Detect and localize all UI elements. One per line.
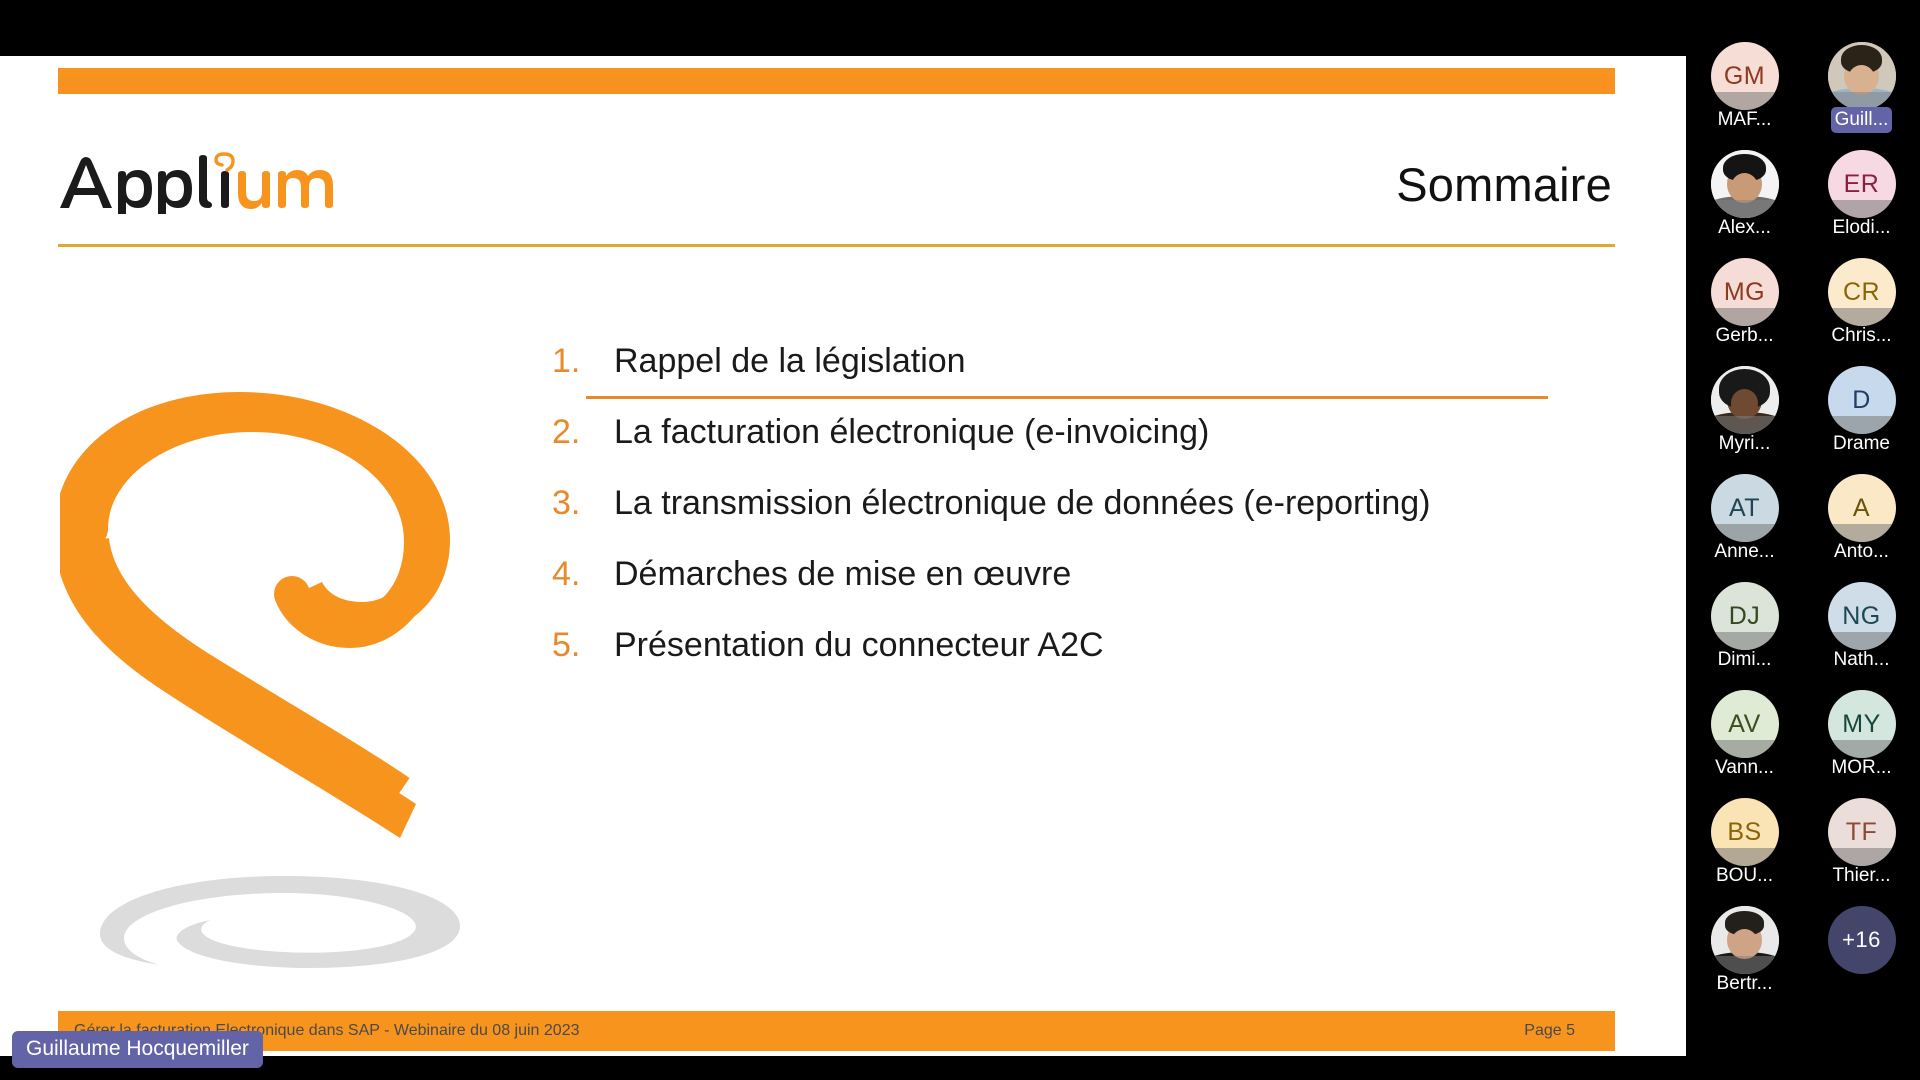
participant-avatar-initials: AV xyxy=(1711,690,1779,758)
agenda-item-label: Démarches de mise en œuvre xyxy=(614,553,1071,595)
agenda-item-number: 5. xyxy=(552,624,614,666)
participant-tile[interactable]: TFThier... xyxy=(1803,798,1920,906)
avatar-initials: CR xyxy=(1843,278,1880,307)
participant-tile[interactable]: DDrame xyxy=(1803,366,1920,474)
shared-screen-content[interactable]: Sommaire 1. xyxy=(0,56,1686,1056)
participant-name: Anne... xyxy=(1710,539,1778,565)
participant-name: Dimi... xyxy=(1714,647,1776,673)
participant-avatar-initials: BS xyxy=(1711,798,1779,866)
participant-avatar-initials: TF xyxy=(1828,798,1896,866)
participant-avatar-initials: CR xyxy=(1828,258,1896,326)
participant-name: MAF... xyxy=(1714,107,1776,133)
agenda-active-underline xyxy=(586,396,1548,399)
participant-name: Anto... xyxy=(1830,539,1893,565)
participant-avatar-photo xyxy=(1711,150,1779,218)
participant-name: Nath... xyxy=(1830,647,1894,673)
participant-tile[interactable]: Myri... xyxy=(1686,366,1803,474)
participant-rail[interactable]: GMMAF... Guill... Alex...ERElodi...MGGer… xyxy=(1686,0,1920,1080)
slide-title: Sommaire xyxy=(1396,156,1612,214)
avatar-initials: MG xyxy=(1724,278,1765,307)
participant-avatar-photo xyxy=(1711,906,1779,974)
agenda-item-number: 2. xyxy=(552,411,614,453)
avatar-initials: AV xyxy=(1728,710,1761,739)
agenda-list: 1. Rappel de la législation 2. La factur… xyxy=(552,340,1552,695)
agenda-item-5[interactable]: 5. Présentation du connecteur A2C xyxy=(552,624,1552,695)
agenda-item-number: 4. xyxy=(552,553,614,595)
avatar-initials: MY xyxy=(1842,710,1881,739)
participant-tile[interactable]: MYMOR... xyxy=(1803,690,1920,798)
avatar-photo xyxy=(1711,366,1779,434)
presentation-slide: Sommaire 1. xyxy=(0,56,1686,1056)
participant-tile[interactable]: ATAnne... xyxy=(1686,474,1803,582)
avatar-photo xyxy=(1828,42,1896,110)
participant-name: Vann... xyxy=(1711,755,1778,781)
agenda-item-2[interactable]: 2. La facturation électronique (e-invoic… xyxy=(552,411,1552,482)
participant-grid: GMMAF... Guill... Alex...ERElodi...MGGer… xyxy=(1686,42,1920,1014)
participant-name: Myri... xyxy=(1715,431,1775,457)
participant-avatar-photo xyxy=(1828,42,1896,110)
avatar-initials: A xyxy=(1853,494,1870,523)
agenda-item-number: 1. xyxy=(552,340,614,382)
slide-top-accent-band xyxy=(58,68,1615,94)
participant-tile[interactable]: BSBOU... xyxy=(1686,798,1803,906)
participant-avatar-initials: MG xyxy=(1711,258,1779,326)
participant-name: Drame xyxy=(1829,431,1894,457)
participant-avatar-initials: MY xyxy=(1828,690,1896,758)
participant-avatar-initials: DJ xyxy=(1711,582,1779,650)
avatar-initials: ER xyxy=(1844,170,1880,199)
participant-name: MOR... xyxy=(1827,755,1895,781)
participant-tile[interactable]: Alex... xyxy=(1686,150,1803,258)
participant-avatar-initials: D xyxy=(1828,366,1896,434)
participant-tile[interactable]: ERElodi... xyxy=(1803,150,1920,258)
participant-avatar-initials: ER xyxy=(1828,150,1896,218)
agenda-item-label: La facturation électronique (e-invoicing… xyxy=(614,411,1209,453)
agenda-item-label: Présentation du connecteur A2C xyxy=(614,624,1104,666)
meeting-stage: Sommaire 1. xyxy=(0,0,1920,1080)
participant-tile[interactable]: AAnto... xyxy=(1803,474,1920,582)
participant-name: Gerb... xyxy=(1711,323,1777,349)
participant-name: Guill... xyxy=(1831,107,1893,133)
participant-name: Chris... xyxy=(1827,323,1895,349)
participant-tile[interactable]: Bertr... xyxy=(1686,906,1803,1014)
participant-name: Bertr... xyxy=(1713,971,1777,997)
participant-avatar-initials: A xyxy=(1828,474,1896,542)
avatar-initials: GM xyxy=(1724,62,1765,91)
participant-tile[interactable]: NGNath... xyxy=(1803,582,1920,690)
agenda-item-1[interactable]: 1. Rappel de la législation xyxy=(552,340,1552,411)
participant-avatar-initials: AT xyxy=(1711,474,1779,542)
participant-name: Alex... xyxy=(1714,215,1775,241)
header-divider-rule xyxy=(58,244,1615,247)
participant-tile[interactable]: MGGerb... xyxy=(1686,258,1803,366)
avatar-initials: BS xyxy=(1727,818,1761,847)
slide-page-number: Page 5 xyxy=(1524,1022,1575,1040)
participant-avatar-photo xyxy=(1711,366,1779,434)
avatar-initials: NG xyxy=(1842,602,1881,631)
participant-tile[interactable]: CRChris... xyxy=(1803,258,1920,366)
agenda-item-4[interactable]: 4. Démarches de mise en œuvre xyxy=(552,553,1552,624)
participant-avatar-initials: GM xyxy=(1711,42,1779,110)
avatar-photo xyxy=(1711,150,1779,218)
participant-tile[interactable]: AVVann... xyxy=(1686,690,1803,798)
applium-logo xyxy=(58,152,348,214)
participant-tile[interactable]: +16 xyxy=(1803,906,1920,1014)
avatar-initials: TF xyxy=(1846,818,1878,847)
participant-tile[interactable]: Guill... xyxy=(1803,42,1920,150)
decorative-spiral-swoosh-icon xyxy=(60,304,530,1004)
agenda-item-number: 3. xyxy=(552,482,614,524)
avatar-initials: DJ xyxy=(1729,602,1761,631)
participant-name: Elodi... xyxy=(1828,215,1894,241)
avatar-photo xyxy=(1711,906,1779,974)
agenda-item-label: Rappel de la législation xyxy=(614,340,966,382)
overflow-label: +16 xyxy=(1842,927,1881,953)
agenda-item-3[interactable]: 3. La transmission électronique de donné… xyxy=(552,482,1552,553)
participant-name: Thier... xyxy=(1828,863,1894,889)
avatar-initials: D xyxy=(1852,386,1871,415)
agenda-item-label: La transmission électronique de données … xyxy=(614,482,1430,524)
participant-avatar-initials: NG xyxy=(1828,582,1896,650)
participant-tile[interactable]: DJDimi... xyxy=(1686,582,1803,690)
participant-tile[interactable]: GMMAF... xyxy=(1686,42,1803,150)
active-speaker-name-label: Guillaume Hocquemiller xyxy=(12,1031,263,1068)
participant-overflow-count: +16 xyxy=(1828,906,1896,974)
avatar-initials: AT xyxy=(1729,494,1760,523)
slide-footer-band: Gérer la facturation Electronique dans S… xyxy=(58,1011,1615,1051)
participant-name: BOU... xyxy=(1712,863,1777,889)
